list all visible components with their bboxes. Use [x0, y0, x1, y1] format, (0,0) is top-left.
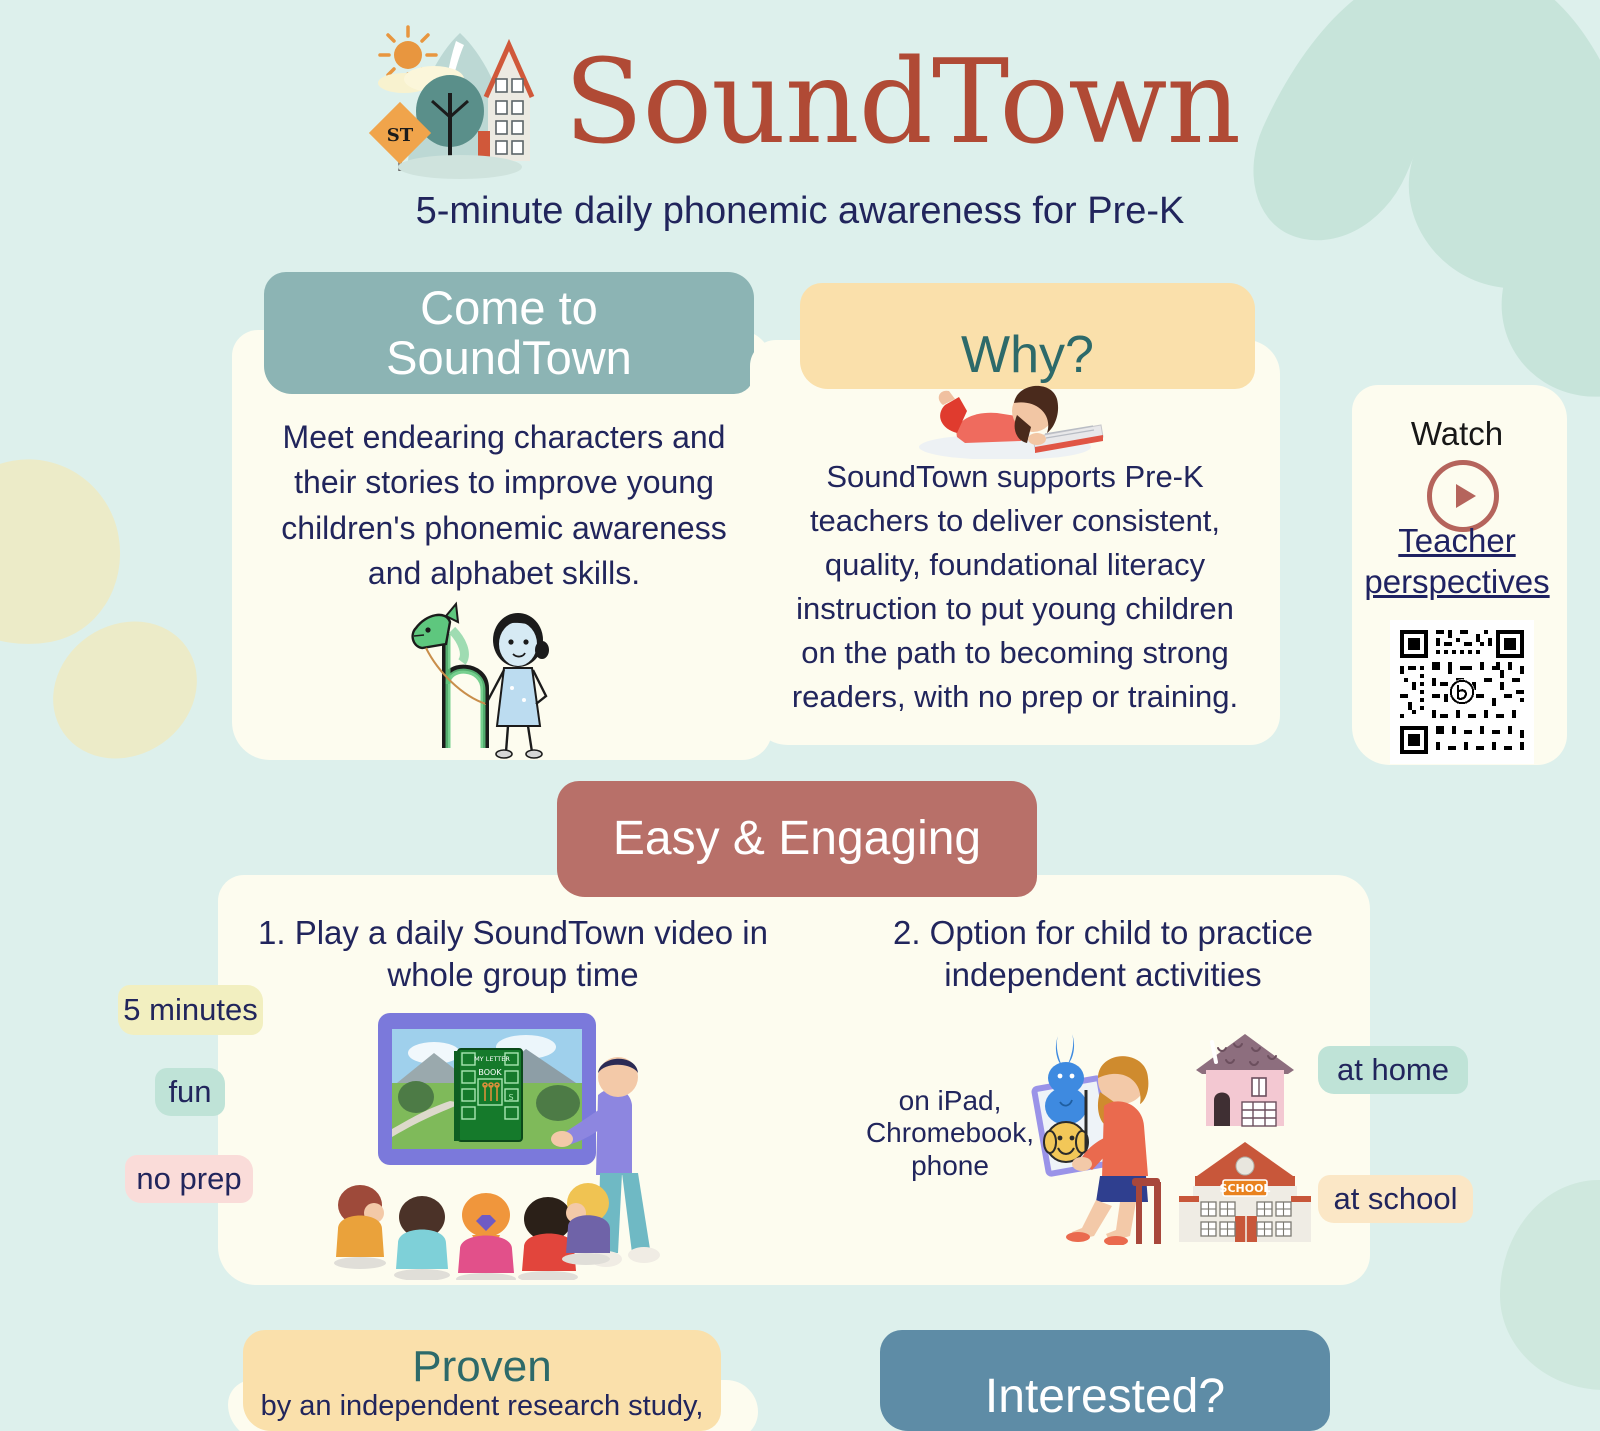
chip-at-school-label: at school — [1333, 1181, 1457, 1217]
proven-subtitle: by an independent research study, 2022 — [243, 1388, 721, 1431]
step-1-heading: 1. Play a daily SoundTown video in whole… — [258, 912, 768, 996]
step-2-heading: 2. Option for child to practice independ… — [848, 912, 1358, 996]
chip-5-minutes: 5 minutes — [118, 985, 263, 1035]
chip-fun: fun — [155, 1068, 225, 1116]
book-title-line2: BOOK — [478, 1068, 502, 1077]
easy-engaging-banner-label: Easy & Engaging — [613, 814, 981, 865]
easy-engaging-banner: Easy & Engaging — [557, 781, 1037, 897]
come-to-soundtown-banner: Come to SoundTown — [264, 272, 754, 394]
proven-banner-label: Proven — [412, 1344, 551, 1391]
come-to-soundtown-body: Meet endearing characters and their stor… — [262, 415, 746, 597]
interested-banner-label: Interested? — [985, 1372, 1225, 1423]
chip-no-prep-label: no prep — [136, 1161, 241, 1197]
poster-header: ST SoundTown 5-minute daily phonemic awa… — [0, 0, 1600, 233]
blob-decoration-1 — [0, 445, 135, 660]
come-to-soundtown-banner-line2: SoundTown — [386, 333, 632, 383]
blob-decoration-2 — [26, 594, 223, 787]
poster-canvas: ST SoundTown 5-minute daily phonemic awa… — [0, 0, 1600, 1431]
girl-reading-book-illustration — [905, 363, 1105, 459]
chip-at-home: at home — [1318, 1046, 1468, 1094]
why-body: SoundTown supports Pre-K teachers to del… — [778, 455, 1252, 719]
girl-with-letter-h-horse-illustration — [400, 600, 570, 760]
interested-banner: Interested? — [880, 1330, 1330, 1431]
book-title-line1: MY LETTER — [474, 1055, 510, 1063]
school-sign-label: SCHOOL — [1220, 1182, 1271, 1195]
chip-at-home-label: at home — [1337, 1052, 1449, 1088]
brand-title: SoundTown — [564, 45, 1240, 161]
chip-5-minutes-label: 5 minutes — [123, 992, 257, 1028]
qr-code[interactable] — [1390, 620, 1534, 764]
school-building-icon: SCHOOL — [1175, 1140, 1315, 1250]
chip-fun-label: fun — [168, 1074, 211, 1110]
chip-no-prep: no prep — [125, 1155, 253, 1203]
soundtown-logo-icon: ST — [360, 21, 560, 186]
come-to-soundtown-banner-line1: Come to — [420, 283, 598, 333]
teacher-perspectives-line2: perspectives — [1337, 561, 1577, 602]
watch-label: Watch — [1337, 415, 1577, 453]
pink-house-icon — [1190, 1030, 1300, 1130]
teacher-perspectives-line1: Teacher — [1337, 520, 1577, 561]
tagline: 5-minute daily phonemic awareness for Pr… — [0, 190, 1600, 233]
blob-decoration-3 — [1500, 1180, 1600, 1390]
book-letter-s: S — [508, 1093, 513, 1102]
child-with-tablet-illustration — [1020, 1030, 1170, 1245]
play-triangle-icon — [1456, 484, 1476, 508]
teacher-showing-video-illustration: MY LETTER BOOK S — [330, 1005, 680, 1280]
teacher-perspectives-link[interactable]: Teacher perspectives — [1337, 520, 1577, 603]
svg-text:ST: ST — [387, 125, 414, 146]
chip-at-school: at school — [1318, 1175, 1473, 1223]
